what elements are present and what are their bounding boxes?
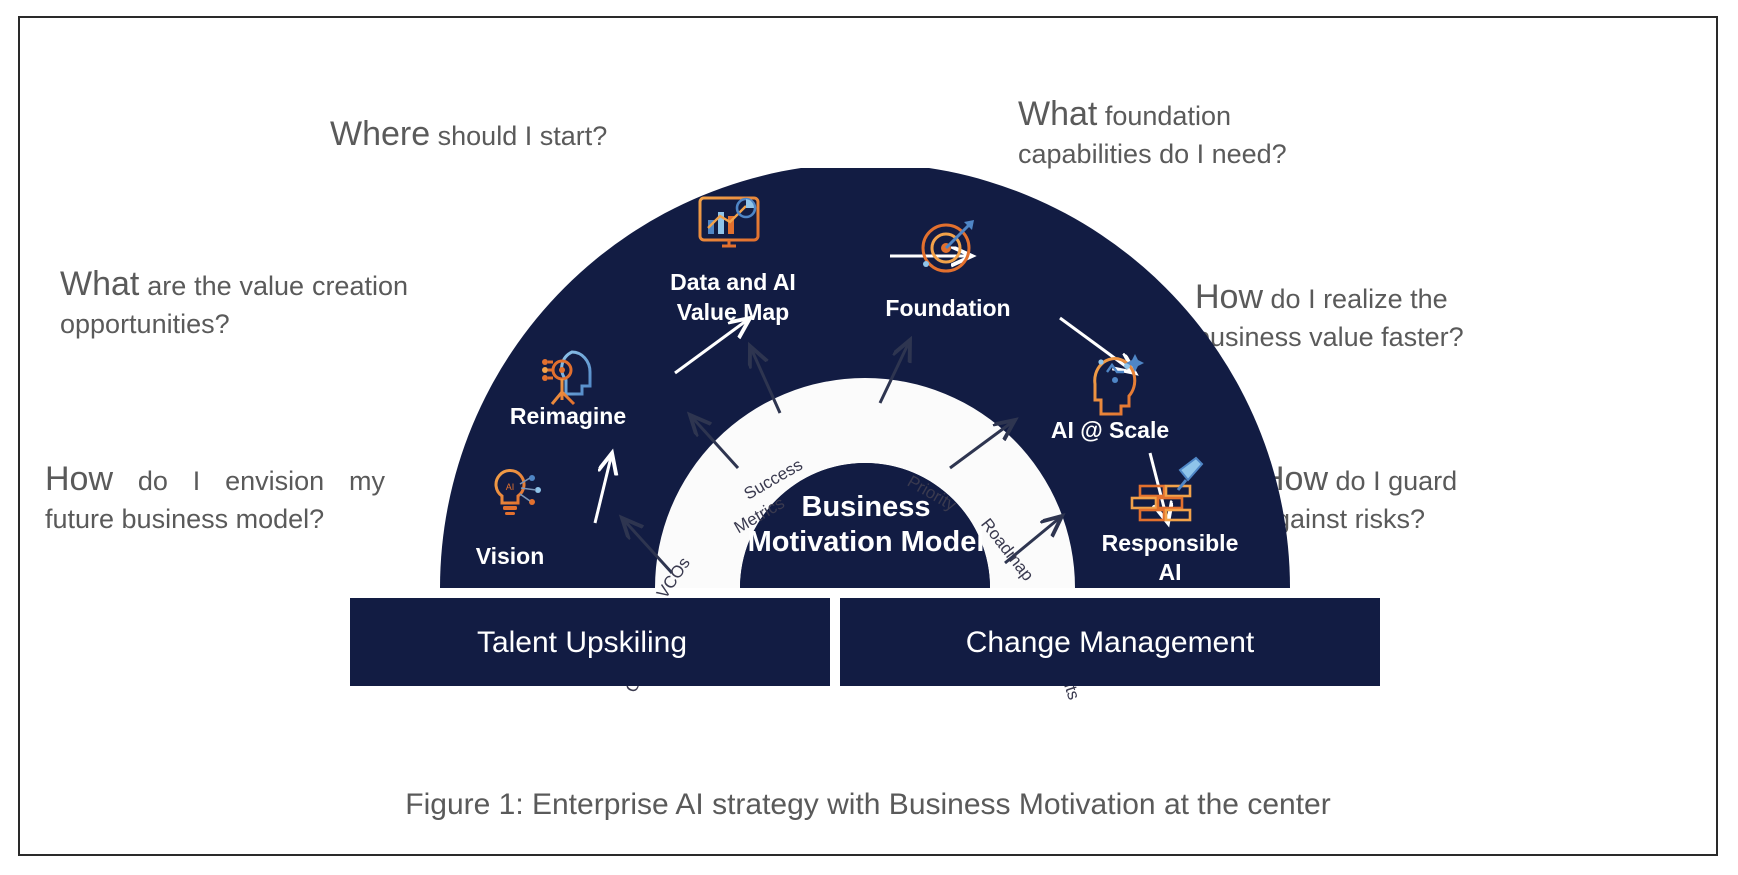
bar-label-talent: Talent Upskiling — [477, 626, 687, 659]
question-where-start: Where should I start? — [330, 113, 660, 157]
question-what-foundation: What foundation capabilities do I need? — [1018, 93, 1348, 171]
stage-label-responsible-1: Responsible — [1102, 530, 1239, 556]
diagram-svg: Goals VCOs Success Metrics Priority Road… — [350, 168, 1380, 728]
stage-label-valuemap-1: Data and AI — [670, 269, 796, 295]
question-emphasis: How — [45, 460, 113, 498]
stage-label-valuemap-2: Value Map — [677, 299, 789, 325]
question-future-model: How do I envision my future business mod… — [45, 458, 385, 536]
stage-label-responsible-2: AI — [1159, 559, 1182, 585]
stage-label-foundation: Foundation — [885, 295, 1010, 321]
question-rest: should I start? — [430, 121, 607, 151]
foundation-bar-talent: Talent Upskiling — [350, 598, 830, 686]
bar-label-change: Change Management — [966, 626, 1255, 659]
question-emphasis: What — [1018, 95, 1097, 133]
foundation-bar-change: Change Management — [840, 598, 1380, 686]
center-title-line2: Motivation Model — [748, 526, 985, 558]
svg-text:AI: AI — [506, 482, 515, 492]
figure-frame: Where should I start? What foundation ca… — [18, 16, 1718, 856]
stage-label-vision: Vision — [476, 543, 545, 569]
stage-label-ai-at-scale: AI @ Scale — [1051, 417, 1169, 443]
center-title-line1: Business — [802, 491, 931, 523]
enterprise-ai-strategy-diagram: Goals VCOs Success Metrics Priority Road… — [350, 168, 1380, 728]
stage-label-reimagine: Reimagine — [510, 403, 626, 429]
question-emphasis: Where — [330, 115, 430, 153]
figure-caption: Figure 1: Enterprise AI strategy with Bu… — [20, 788, 1716, 822]
question-emphasis: What — [60, 265, 139, 303]
